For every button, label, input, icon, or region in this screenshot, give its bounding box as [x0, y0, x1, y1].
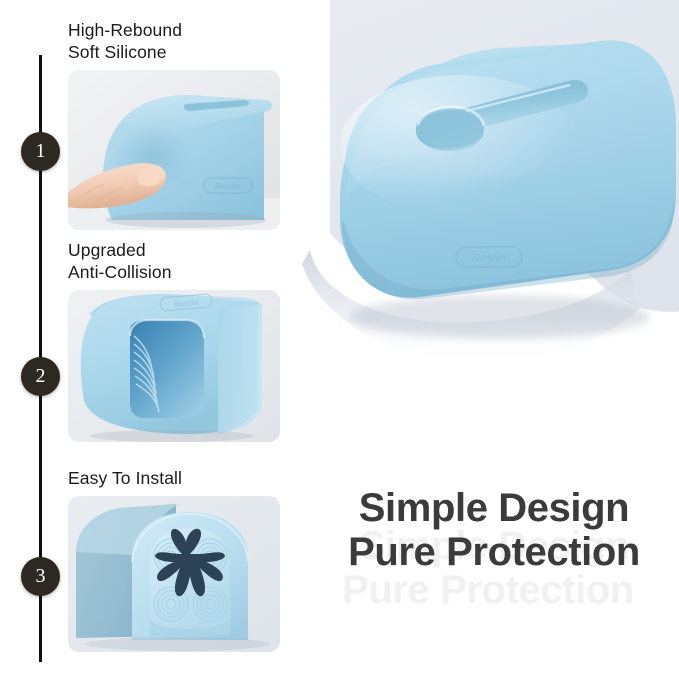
svg-text:Roslin: Roslin [472, 252, 506, 264]
step-badge-1: 1 [21, 132, 60, 171]
feature-easy-install-caption: Easy To Install [68, 468, 280, 490]
feature-easy-install: Easy To Install [68, 468, 280, 652]
product-infographic: Roslin 1 2 3 High-Rebound Soft Silicone [0, 0, 679, 679]
headline: Simple Design Pure Protection [318, 486, 670, 574]
feature-anti-collision-caption: Upgraded Anti-Collision [68, 240, 280, 284]
step-badge-3: 3 [21, 557, 60, 596]
step-badge-1-number: 1 [36, 140, 46, 163]
headline-line-1: Simple Design [318, 486, 670, 530]
hero-product-image: Roslin [300, 25, 679, 355]
feature-easy-install-image [68, 496, 280, 652]
svg-text:Roslin: Roslin [215, 181, 241, 191]
headline-ghost-line-2: Pure Protection [312, 568, 664, 612]
step-badge-2: 2 [21, 357, 60, 396]
headline-line-2: Pure Protection [318, 530, 670, 574]
feature-anti-collision: Upgraded Anti-Collision [68, 240, 280, 442]
feature-high-rebound-caption: High-Rebound Soft Silicone [68, 20, 280, 64]
feature-high-rebound: High-Rebound Soft Silicone [68, 20, 280, 230]
step-badge-3-number: 3 [36, 565, 46, 588]
feature-high-rebound-image: Roslin [68, 70, 280, 230]
step-badge-2-number: 2 [36, 365, 46, 388]
feature-anti-collision-image: Roslin [68, 290, 280, 442]
